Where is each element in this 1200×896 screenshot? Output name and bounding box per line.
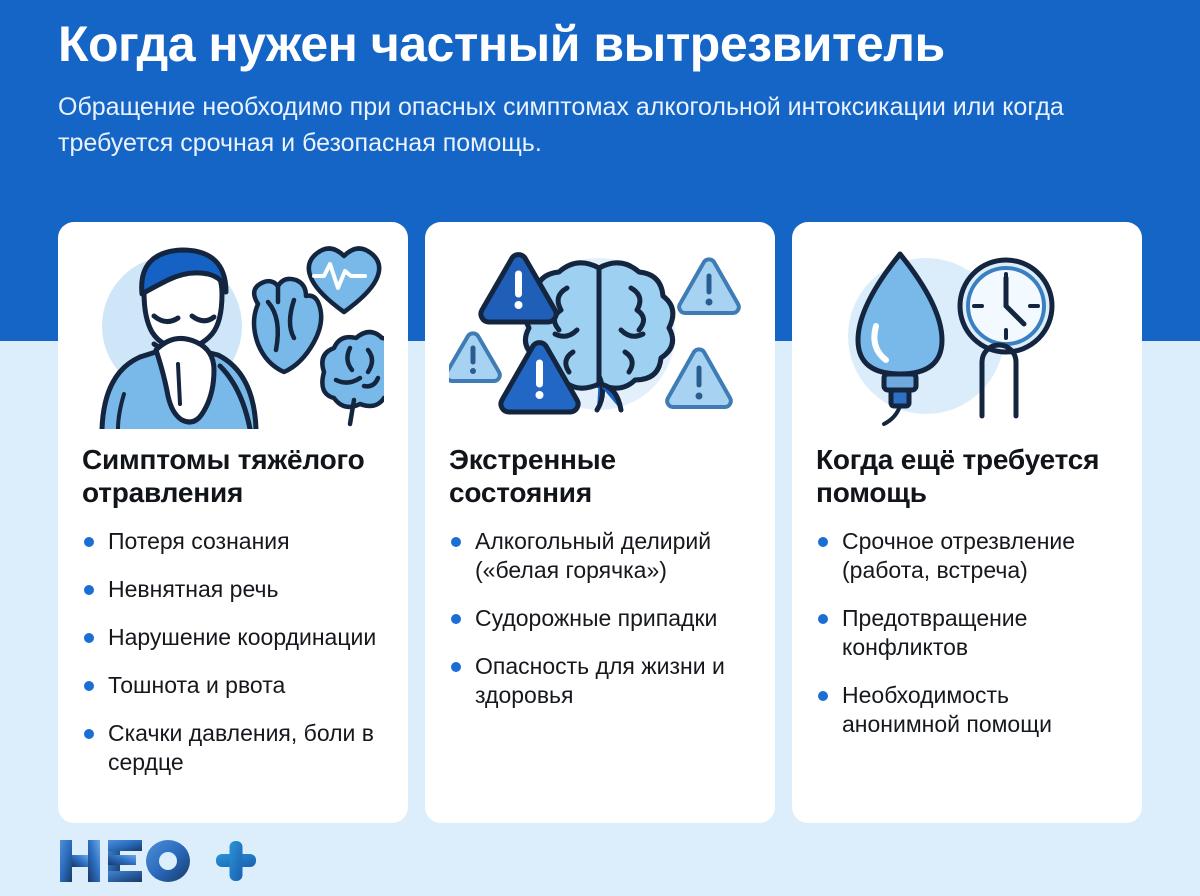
list-item: Судорожные припадки [449,604,751,633]
anatomical-heart-icon [254,279,321,372]
symptom-list: Потеря сознания Невнятная речь Нарушение… [82,527,384,777]
list-item: Потеря сознания [82,527,384,556]
page-subtitle: Обращение необходимо при опасных симптом… [58,89,1093,161]
card-severe-poisoning[interactable]: Симптомы тяжёлого отравления Потеря созн… [58,222,408,823]
emergency-list: Алкогольный делирий («белая горячка») Су… [449,527,751,710]
list-item: Срочное отрезвление (работа, встреча) [816,527,1118,585]
list-item: Скачки давления, боли в сердце [82,719,384,777]
header: Когда нужен частный вытрезвитель Обращен… [0,0,1200,161]
list-item: Нарушение координации [82,623,384,652]
card-title: Когда ещё требуется помощь [816,443,1118,509]
brain-with-warnings-illustration [449,244,751,429]
card-when-else-help[interactable]: Когда ещё требуется помощь Срочное отрез… [792,222,1142,823]
warning-triangle-icon [667,349,731,407]
iv-drip-clock-illustration [816,244,1118,429]
card-title: Симптомы тяжёлого отравления [82,443,384,509]
warning-triangle-icon [679,259,739,313]
logo-plus-symbol [216,841,256,881]
nauseous-man-heart-brain-illustration [82,244,384,429]
card-title: Экстренные состояния [449,443,751,509]
warning-triangle-icon [449,333,500,381]
list-item: Тошнота и рвота [82,671,384,700]
logo-letter-o [146,840,190,882]
clock-icon [960,260,1052,352]
page-title: Когда нужен частный вытрезвитель [58,18,1142,71]
list-item: Алкогольный делирий («белая горячка») [449,527,751,585]
list-item: Необходимость анонимной помощи [816,681,1118,739]
brand-logo[interactable] [58,838,258,884]
logo-letter-n [60,840,100,882]
when-else-list: Срочное отрезвление (работа, встреча) Пр… [816,527,1118,739]
warning-triangle-icon [481,255,556,322]
list-item: Невнятная речь [82,575,384,604]
list-item: Опасность для жизни и здоровья [449,652,751,710]
logo-letter-e [108,840,142,882]
brain-icon [322,332,384,424]
card-emergency-conditions[interactable]: Экстренные состояния Алкогольный делирий… [425,222,775,823]
cards-row: Симптомы тяжёлого отравления Потеря созн… [58,222,1142,823]
list-item: Предотвращение конфликтов [816,604,1118,662]
